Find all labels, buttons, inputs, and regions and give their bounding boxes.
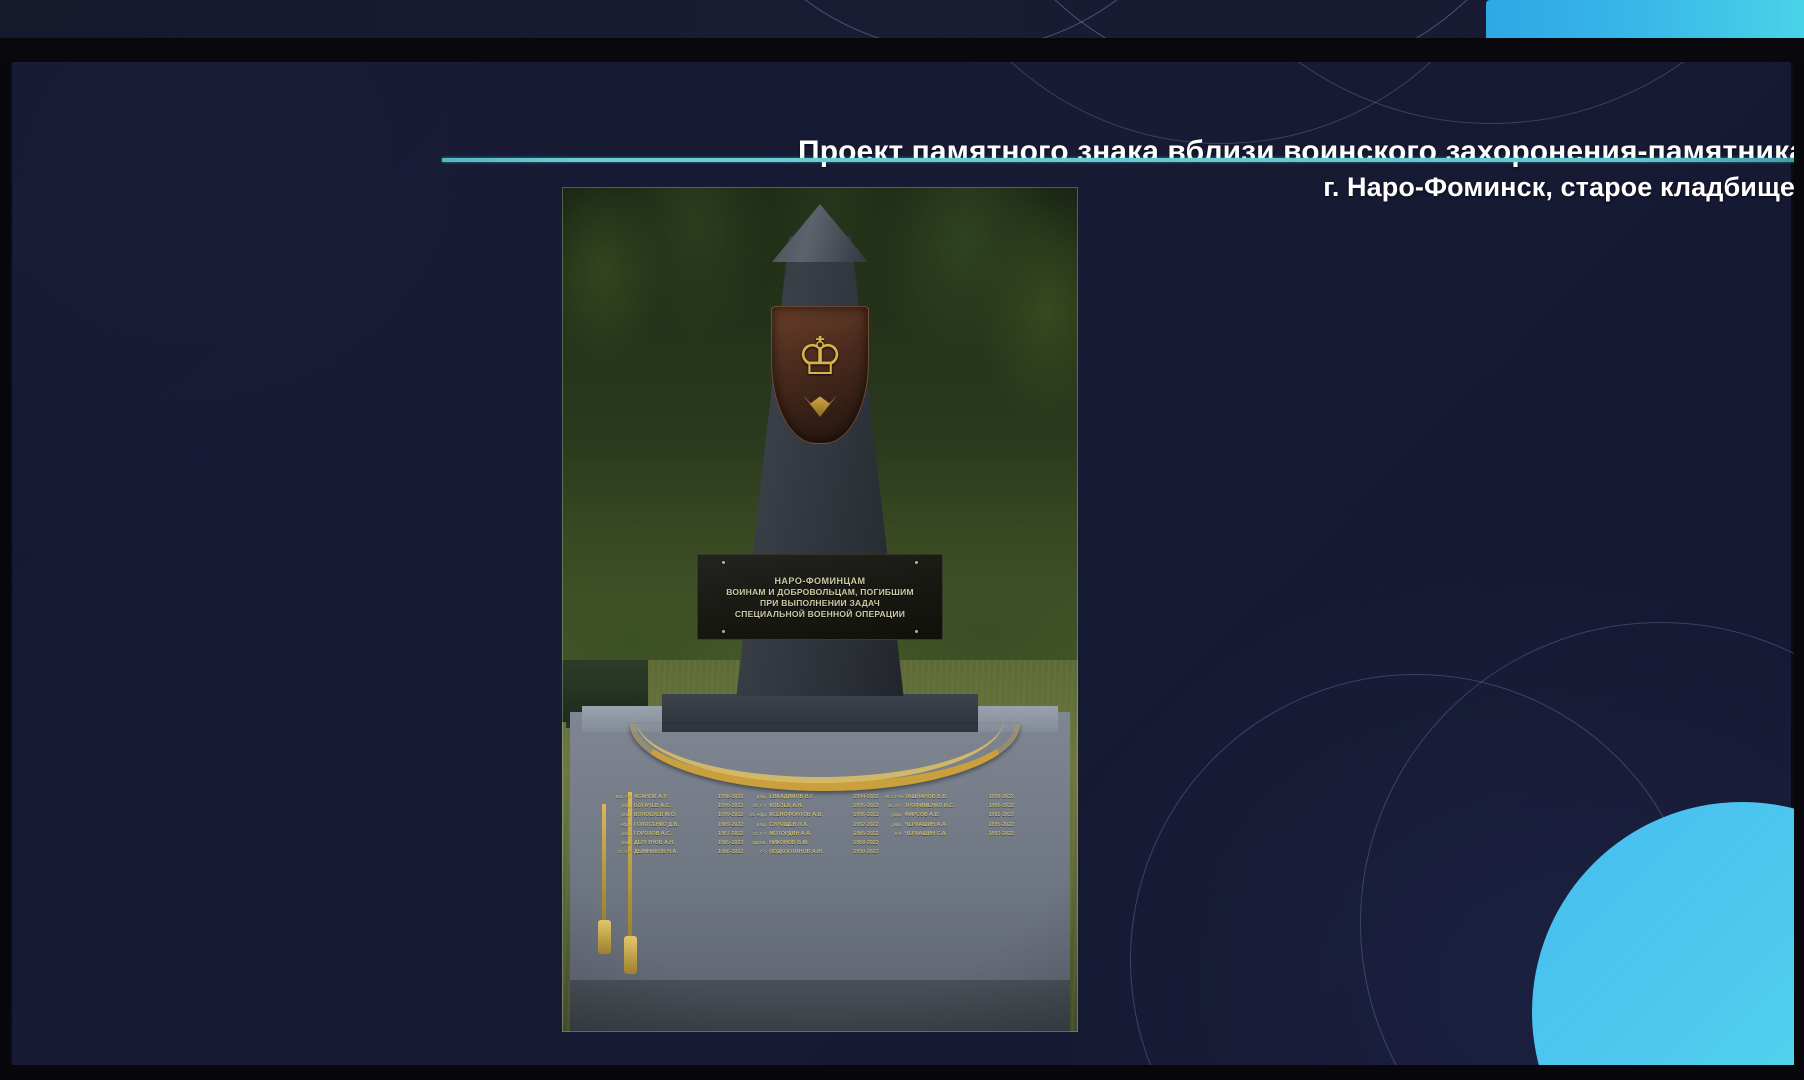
monument-photo: ♔ НАРО-ФОМИНЦАМ ВОИНАМ И ДОБРОВОЛЬЦАМ, П… [562, 187, 1078, 1032]
names-column: ряд.ЕВКАДИМОВ В.Г.1994-2022гв. с-тКОБЗЕВ… [749, 794, 878, 912]
name-rank: гв. с-т [749, 803, 766, 808]
name-text: ПОДКОПТИНОВ А.Ю. [769, 849, 850, 855]
name-years: 1999-2022 [718, 812, 743, 818]
name-row: гв. с-тКОБЗЕВ А.Н.1995-2022 [749, 803, 878, 809]
name-text: МОТОРДИН А.А. [769, 831, 850, 837]
name-row: ст. л-тДЫМНИКОВ Н.А.1986-2022 [614, 849, 743, 855]
name-row: пдплк.НИКОНОВ В.М.1968-2023 [749, 840, 878, 846]
decorative-circle-icon [1160, 62, 1794, 124]
name-years: 1990-2022 [718, 803, 743, 809]
plaque-stud-icon [722, 630, 725, 633]
name-rank: гв. ефр. [749, 812, 766, 817]
name-rank: ст. л-т [614, 849, 631, 854]
names-column: мл. с-тАСАНОВ А.Р.1998-2022ряд.БОГАЧЕВ А… [614, 794, 743, 912]
name-text: ГОРОХОВ А.С. [634, 831, 715, 837]
top-decorative-strip [0, 0, 1804, 38]
name-rank: пдплк. [749, 840, 766, 845]
tassel-knob [624, 936, 637, 974]
tassel-knob [598, 920, 611, 954]
plaque-stud-icon [915, 561, 918, 564]
name-row: ряд.ЧЕРКАШИН А.А.1995-2022 [885, 822, 1014, 828]
name-text: ЧЕРКАШИН С.А. [905, 831, 986, 837]
name-years: 1989-2022 [718, 822, 743, 828]
name-years: 1986-2022 [718, 849, 743, 855]
monument-base-front [570, 980, 1070, 1032]
name-rank: ряд. [749, 794, 766, 799]
name-text: ГОЛОСЕНКО Д.В. [634, 822, 715, 828]
name-text: ЧЕРКАШИН А.А. [905, 822, 986, 828]
name-rank: ряд. [614, 812, 631, 817]
name-text: КСЕНОФОНТОВ А.В. [769, 812, 850, 818]
names-column: гв. ст-наТАШЛАНОВ В.В.1990-2023гв. л-тТР… [885, 794, 1014, 912]
name-text: ДЫМНИКОВ Н.А. [634, 849, 715, 855]
name-row: ряд.ВОЛОБУЕВ М.О.1999-2022 [614, 812, 743, 818]
name-years: 1992-2022 [853, 822, 878, 828]
plaque-line: СПЕЦИАЛЬНОЙ ВОЕННОЙ ОПЕРАЦИИ [735, 609, 905, 619]
tassel-icon [598, 804, 612, 974]
name-text: ЕВКАДИМОВ В.Г. [769, 794, 850, 800]
name-text: НИКОНОВ В.М. [769, 840, 850, 846]
decorative-circle-icon [910, 62, 1532, 144]
name-years: 1995-2022 [853, 803, 878, 809]
name-row: гв. ефр.КСЕНОФОНТОВ А.В.1996-2022 [749, 812, 878, 818]
name-years: 1985-2022 [853, 831, 878, 837]
name-rank: гв. л-т [885, 803, 902, 808]
name-row: ряд.ДЕРГУНОВ А.Н.1985-2023 [614, 840, 743, 846]
name-text: ВОЛОБУЕВ М.О. [634, 812, 715, 818]
bottom-letterbox [0, 1065, 1804, 1080]
name-years: 1995-2022 [989, 822, 1014, 828]
name-text: ТРОФИМЕНКО И.С. [905, 803, 986, 809]
name-text: КОБЗЕВ А.Н. [769, 803, 850, 809]
name-rank: ряд. [614, 803, 631, 808]
plaque-line: НАРО-ФОМИНЦАМ [774, 576, 865, 586]
name-rank: ряд. [885, 812, 902, 817]
name-years: 1994-2022 [853, 794, 878, 800]
title-divider [442, 158, 1794, 162]
name-years: 1993-2022 [989, 831, 1014, 837]
cyan-accent-tab [1486, 0, 1804, 38]
name-years: 1968-2023 [853, 840, 878, 846]
name-rank: ряд. [885, 822, 902, 827]
name-row: гв. л-тТРОФИМЕНКО И.С.1996-2022 [885, 803, 1014, 809]
name-row: в-нЧЕРКАШИН С.А.1993-2022 [885, 831, 1014, 837]
plaque-line: ПРИ ВЫПОЛНЕНИИ ЗАДАЧ [760, 598, 880, 608]
name-row: ряд.ГОРОХОВ А.С.1967-2022 [614, 831, 743, 837]
name-years: 1990-2023 [989, 794, 1014, 800]
name-text: АСАНОВ А.Р. [634, 794, 715, 800]
plaque-stud-icon [915, 630, 918, 633]
name-row: ряд.СУРОЩЕВ Л.А.1992-2022 [749, 822, 878, 828]
name-years: 1998-2022 [718, 794, 743, 800]
name-text: ТАШЛАНОВ В.В. [905, 794, 986, 800]
name-years: 1996-2022 [989, 803, 1014, 809]
name-text: ФИРСОВ А.В. [905, 812, 986, 818]
name-rank: в-н [885, 831, 902, 836]
double-headed-eagle-icon: ♔ [785, 329, 855, 391]
name-text: ДЕРГУНОВ А.Н. [634, 840, 715, 846]
letterbox-gap [0, 38, 1804, 62]
plaque-stud-icon [722, 561, 725, 564]
name-row: ряд.ФИРСОВ А.В.1981-2023 [885, 812, 1014, 818]
name-rank: ст. л-т [749, 831, 766, 836]
name-years: 1985-2023 [718, 840, 743, 846]
cyan-circle-decoration [1532, 802, 1794, 1065]
name-rank: ефр. [614, 822, 631, 827]
crown-icon [803, 395, 837, 417]
name-row: ст. л-тМОТОРДИН А.А.1985-2022 [749, 831, 878, 837]
name-rank: с-т [749, 849, 766, 854]
name-rank: мл. с-т [614, 794, 631, 799]
laurel-wreath-icon [630, 724, 1010, 782]
memorial-names-panel: мл. с-тАСАНОВ А.Р.1998-2022ряд.БОГАЧЕВ А… [614, 794, 1014, 912]
tassel-cord [602, 804, 606, 924]
name-text: БОГАЧЕВ А.С. [634, 803, 715, 809]
plaque-line: ВОИНАМ И ДОБРОВОЛЬЦАМ, ПОГИБШИМ [726, 587, 914, 597]
name-text: СУРОЩЕВ Л.А. [769, 822, 850, 828]
name-years: 1990-2023 [853, 849, 878, 855]
name-row: с-тПОДКОПТИНОВ А.Ю.1990-2023 [749, 849, 878, 855]
slide-viewer: Проект памятного знака вблизи воинского … [0, 0, 1804, 1080]
name-years: 1967-2022 [718, 831, 743, 837]
name-row: ряд.БОГАЧЕВ А.С.1990-2022 [614, 803, 743, 809]
name-row: мл. с-тАСАНОВ А.Р.1998-2022 [614, 794, 743, 800]
name-rank: гв. ст-на [885, 794, 902, 799]
name-rank: ряд. [614, 831, 631, 836]
name-row: ряд.ЕВКАДИМОВ В.Г.1994-2022 [749, 794, 878, 800]
name-row: гв. ст-наТАШЛАНОВ В.В.1990-2023 [885, 794, 1014, 800]
inscription-plaque: НАРО-ФОМИНЦАМ ВОИНАМ И ДОБРОВОЛЬЦАМ, ПОГ… [697, 554, 943, 640]
name-rank: ряд. [749, 822, 766, 827]
slide-title: Проект памятного знака вблизи воинского … [430, 134, 1794, 170]
name-years: 1981-2023 [989, 812, 1014, 818]
name-row: ефр.ГОЛОСЕНКО Д.В.1989-2022 [614, 822, 743, 828]
presentation-slide: Проект памятного знака вблизи воинского … [10, 62, 1794, 1065]
name-rank: ряд. [614, 840, 631, 845]
slide-left-edge [10, 62, 12, 1065]
name-years: 1996-2022 [853, 812, 878, 818]
